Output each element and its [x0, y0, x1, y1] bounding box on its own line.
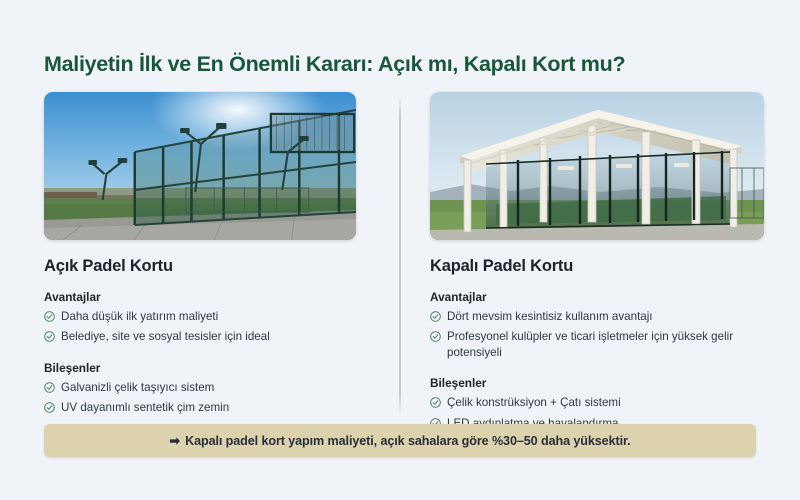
check-circle-icon [44, 331, 55, 342]
check-circle-icon [44, 382, 55, 393]
bullet-list-outdoor-components: Galvanizli çelik taşıyıcı sistem UV daya… [44, 380, 356, 416]
cost-callout-banner: ➡ Kapalı padel kort yapım maliyeti, açık… [44, 424, 756, 457]
check-circle-icon [430, 331, 441, 342]
list-item: Belediye, site ve sosyal tesisler için i… [44, 329, 356, 344]
outdoor-court-photo [44, 92, 356, 240]
list-item: Galvanizli çelik taşıyıcı sistem [44, 380, 356, 395]
check-circle-icon [430, 311, 441, 322]
check-circle-icon [430, 397, 441, 408]
check-circle-icon [44, 402, 55, 413]
list-item-text: Çelik konstrüksiyon + Çatı sistemi [447, 395, 764, 410]
section-heading-indoor-components: Bileşenler [430, 376, 764, 390]
list-item-text: Profesyonel kulüpler ve ticari işletmele… [447, 329, 764, 360]
bullet-list-outdoor-advantages: Daha düşük ilk yatırım maliyeti Belediye… [44, 309, 356, 345]
indoor-court-photo [430, 92, 764, 240]
list-item: Dört mevsim kesintisiz kullanım avantajı [430, 309, 764, 324]
section-heading-indoor-advantages: Avantajlar [430, 290, 764, 304]
list-item-text: UV dayanımlı sentetik çim zemin [61, 400, 356, 415]
list-item-text: Daha düşük ilk yatırım maliyeti [61, 309, 356, 324]
list-item-text: Galvanizli çelik taşıyıcı sistem [61, 380, 356, 395]
list-item: Çelik konstrüksiyon + Çatı sistemi [430, 395, 764, 410]
check-circle-icon [44, 311, 55, 322]
section-heading-outdoor-advantages: Avantajlar [44, 290, 356, 304]
column-outdoor: Açık Padel Kortu Avantajlar Daha düşük i… [0, 92, 400, 436]
column-indoor: Kapalı Padel Kortu Avantajlar Dört mevsi… [400, 92, 800, 436]
list-item: UV dayanımlı sentetik çim zemin [44, 400, 356, 415]
card-title-indoor: Kapalı Padel Kortu [430, 257, 764, 276]
cost-callout-text: Kapalı padel kort yapım maliyeti, açık s… [185, 434, 630, 448]
comparison-columns: Açık Padel Kortu Avantajlar Daha düşük i… [0, 92, 800, 436]
list-item-text: Belediye, site ve sosyal tesisler için i… [61, 329, 356, 344]
arrow-right-icon: ➡ [170, 433, 181, 448]
page-title: Maliyetin İlk ve En Önemli Kararı: Açık … [44, 52, 756, 77]
bullet-list-indoor-advantages: Dört mevsim kesintisiz kullanım avantajı… [430, 309, 764, 360]
infographic-page: Maliyetin İlk ve En Önemli Kararı: Açık … [0, 0, 800, 500]
section-heading-outdoor-components: Bileşenler [44, 361, 356, 375]
list-item-text: Dört mevsim kesintisiz kullanım avantajı [447, 309, 764, 324]
card-title-outdoor: Açık Padel Kortu [44, 257, 356, 276]
list-item: Profesyonel kulüpler ve ticari işletmele… [430, 329, 764, 360]
list-item: Daha düşük ilk yatırım maliyeti [44, 309, 356, 324]
